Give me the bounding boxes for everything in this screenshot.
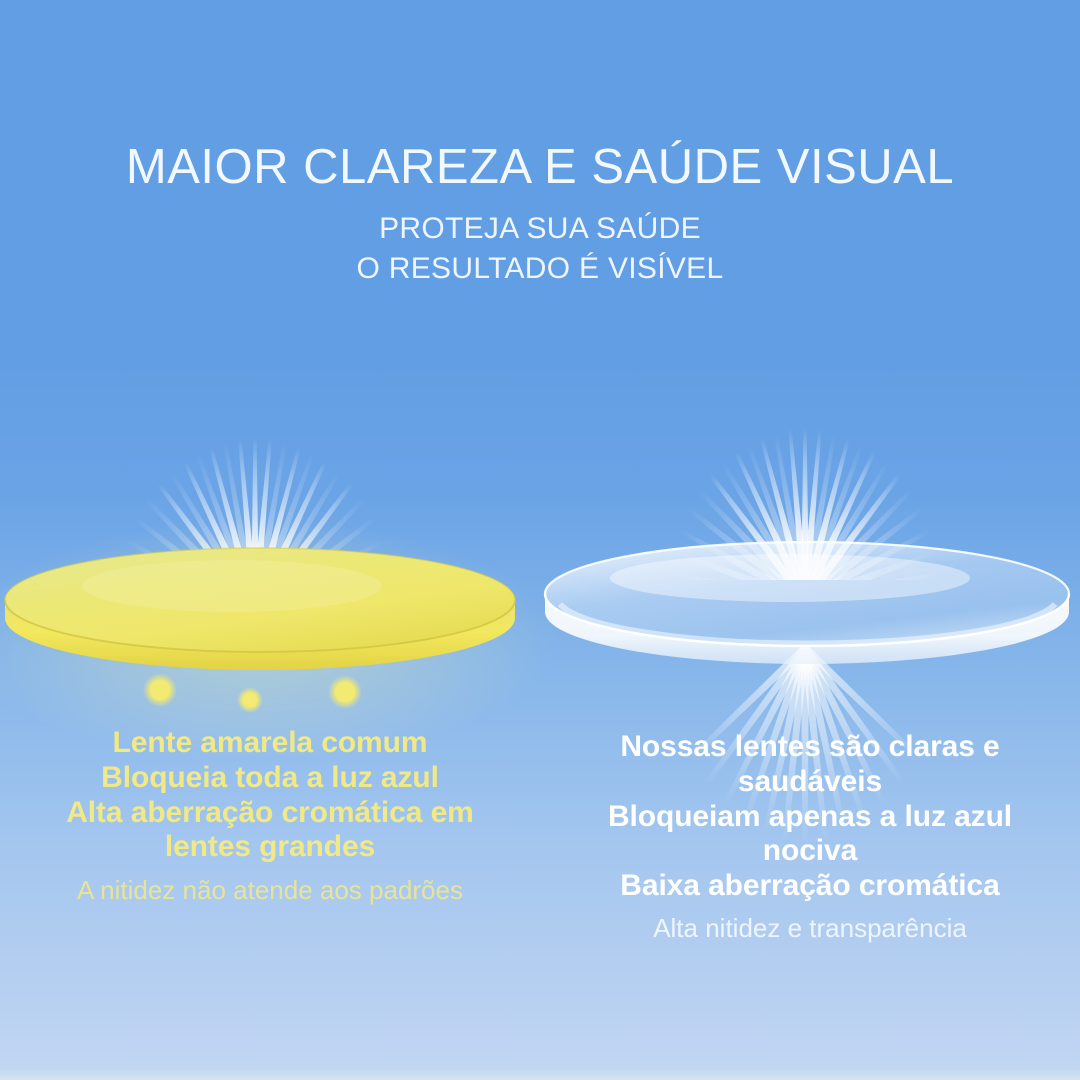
caption-line: Bloqueia toda a luz azul <box>14 761 526 796</box>
caption-line: Nossas lentes são claras e <box>554 730 1066 765</box>
caption-line: Baixa aberração cromática <box>554 869 1066 904</box>
lens-comparison-poster: MAIOR CLAREZA E SAÚDE VISUAL PROTEJA SUA… <box>0 0 1080 1080</box>
caption-line: Bloqueiam apenas a luz azul <box>554 800 1066 835</box>
caption-column-yellow-lens: Lente amarela comum Bloqueia toda a luz … <box>0 726 540 1026</box>
caption-line: saudáveis <box>554 765 1066 800</box>
yellow-lens <box>5 548 515 670</box>
caption-line: lentes grandes <box>14 830 526 865</box>
subtitle-primary: PROTEJA SUA SAÚDE <box>0 209 1080 249</box>
caption-line: Alta aberração cromática em <box>14 796 526 831</box>
caption-note: A nitidez não atende aos padrões <box>14 874 526 908</box>
page-title: MAIOR CLAREZA E SAÚDE VISUAL <box>0 142 1080 193</box>
caption-note: Alta nitidez e transparência <box>554 912 1066 946</box>
subtitle-secondary: O RESULTADO É VISÍVEL <box>0 249 1080 289</box>
comparison-captions: Lente amarela comum Bloqueia toda a luz … <box>0 726 1080 1026</box>
header-block: MAIOR CLAREZA E SAÚDE VISUAL PROTEJA SUA… <box>0 0 1080 289</box>
caption-column-clear-lens: Nossas lentes são claras e saudáveis Blo… <box>540 726 1080 1026</box>
caption-line: nociva <box>554 834 1066 869</box>
clear-lens <box>545 542 1069 664</box>
caption-line: Lente amarela comum <box>14 726 526 761</box>
